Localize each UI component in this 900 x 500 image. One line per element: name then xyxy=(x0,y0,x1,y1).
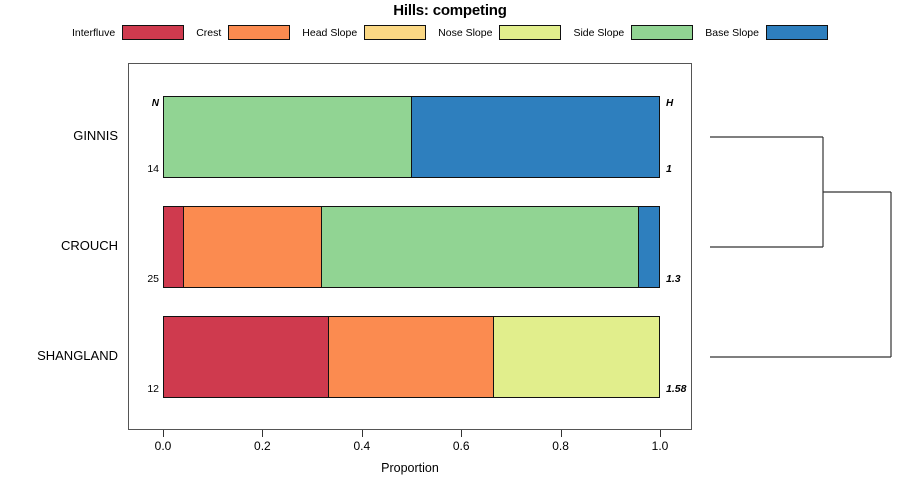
legend-swatch xyxy=(364,25,426,40)
x-tick-mark xyxy=(561,430,562,437)
dendrogram xyxy=(700,63,900,430)
legend-swatch xyxy=(228,25,290,40)
row-label-ginnis: GINNIS xyxy=(0,128,118,143)
legend-swatch xyxy=(499,25,561,40)
page-title: Hills: competing xyxy=(0,2,900,19)
x-tick-label: 0.8 xyxy=(541,439,581,453)
stacked-bar[interactable] xyxy=(163,206,660,288)
row-h-value: 1 xyxy=(666,163,672,175)
row-label-crouch: CROUCH xyxy=(0,238,118,253)
bar-segment[interactable] xyxy=(639,207,659,287)
bar-segment[interactable] xyxy=(164,207,184,287)
x-axis-title: Proportion xyxy=(128,461,692,475)
bar-segment[interactable] xyxy=(494,317,659,397)
legend-swatch xyxy=(122,25,184,40)
bar-segment[interactable] xyxy=(329,317,494,397)
legend-label: Head Slope xyxy=(302,27,357,39)
legend-label: Side Slope xyxy=(573,27,624,39)
row-n-value: 25 xyxy=(133,273,159,285)
x-tick-mark xyxy=(163,430,164,437)
legend-label: Base Slope xyxy=(705,27,759,39)
bar-segment[interactable] xyxy=(164,97,412,177)
row-h-value: 1.58 xyxy=(666,383,686,395)
legend-entry[interactable]: Base Slope xyxy=(705,25,828,40)
x-tick-label: 0.4 xyxy=(342,439,382,453)
x-tick-label: 0.2 xyxy=(242,439,282,453)
bar-segment[interactable] xyxy=(164,317,329,397)
legend-entry[interactable]: Nose Slope xyxy=(438,25,561,40)
x-tick-mark xyxy=(362,430,363,437)
x-tick-mark xyxy=(461,430,462,437)
legend-label: Nose Slope xyxy=(438,27,492,39)
legend-swatch xyxy=(766,25,828,40)
column-header-h: H xyxy=(666,98,673,109)
legend-entry[interactable]: Side Slope xyxy=(573,25,693,40)
legend-entry[interactable]: Interfluve xyxy=(72,25,184,40)
stacked-bar[interactable] xyxy=(163,96,660,178)
x-tick-label: 0.0 xyxy=(143,439,183,453)
bar-segment[interactable] xyxy=(412,97,660,177)
legend-entry[interactable]: Crest xyxy=(196,25,290,40)
row-h-value: 1.3 xyxy=(666,273,681,285)
x-axis: Proportion 0.00.20.40.60.81.0 xyxy=(0,430,900,500)
stacked-bar[interactable] xyxy=(163,316,660,398)
legend-swatch xyxy=(631,25,693,40)
x-tick-label: 0.6 xyxy=(441,439,481,453)
legend-label: Crest xyxy=(196,27,221,39)
bar-segment[interactable] xyxy=(184,207,323,287)
row-label-shangland: SHANGLAND xyxy=(0,348,118,363)
legend-entry[interactable]: Head Slope xyxy=(302,25,426,40)
bar-segment[interactable] xyxy=(322,207,639,287)
x-tick-mark xyxy=(262,430,263,437)
row-n-value: 14 xyxy=(133,163,159,175)
column-header-n: N xyxy=(133,98,159,109)
row-n-value: 12 xyxy=(133,383,159,395)
x-tick-label: 1.0 xyxy=(640,439,680,453)
legend-label: Interfluve xyxy=(72,27,115,39)
dendrogram-svg xyxy=(700,63,900,430)
x-tick-mark xyxy=(660,430,661,437)
legend: InterfluveCrestHead SlopeNose SlopeSide … xyxy=(0,25,900,40)
